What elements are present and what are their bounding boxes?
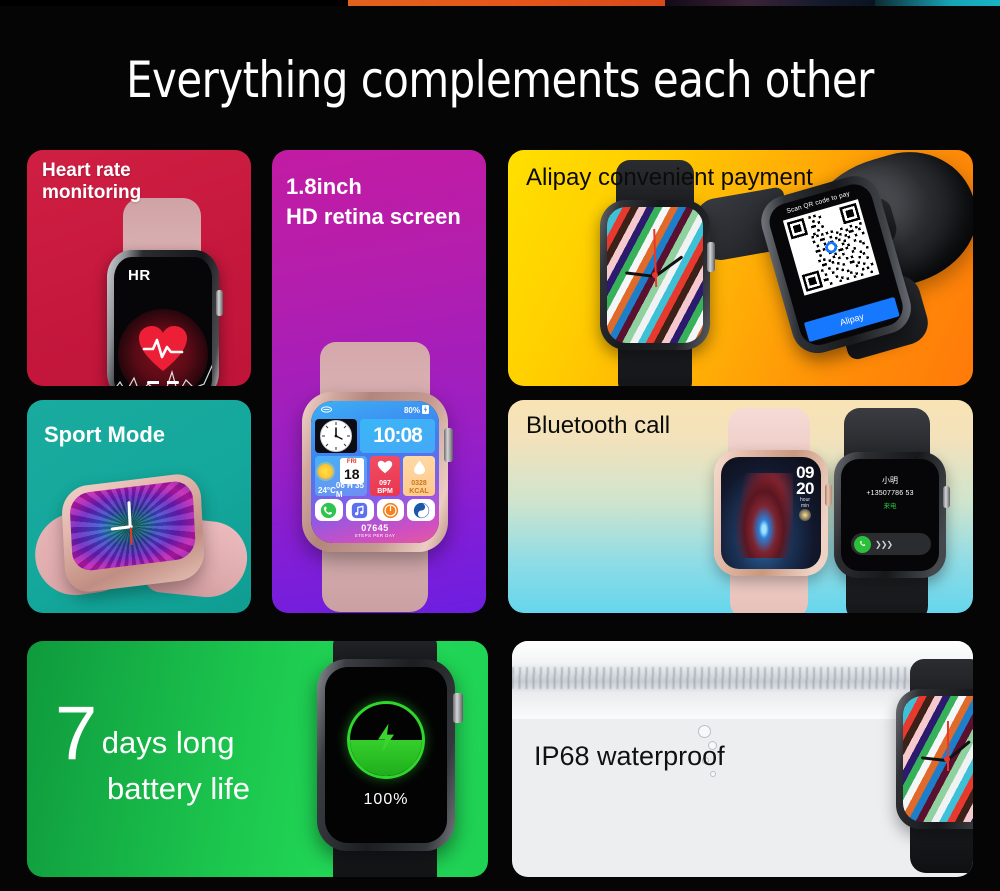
heart-rate-widget: 097 BPM (370, 456, 400, 496)
watch-crown (453, 693, 463, 723)
status-bar: 80% (315, 405, 435, 416)
digital-time: 10:08 (360, 419, 435, 453)
calories-widget: 0328 KCAL (403, 456, 435, 496)
kcal-unit: KCAL (409, 488, 428, 496)
row-weather-metrics: FRI 18 24°C 06 H 35 M (315, 456, 435, 496)
chevron-right-icon: ❯❯❯ (875, 540, 892, 549)
hr-label: HR (128, 267, 151, 284)
watch-screen: 80% (311, 401, 439, 543)
lightning-bolt-icon (374, 723, 398, 753)
page-title: Everything complements each other (35, 52, 965, 108)
panel-hd-screen: 1.8inch HD retina screen 80% (272, 150, 486, 613)
second-hand (653, 229, 657, 287)
watch-screen: 小明 +13507786 53 来电 ❯❯❯ (841, 459, 939, 571)
watch-screen: HR (114, 257, 212, 386)
sport-watch (27, 462, 251, 613)
bubble-icon (698, 725, 711, 738)
panel-sport-mode: Sport Mode (27, 400, 251, 613)
battery-label-group: 7 days long battery life (55, 703, 250, 807)
steps-widget: 07645 STEPS PER DAY (315, 524, 435, 539)
battery-indicator (347, 701, 425, 779)
top-color-strip (0, 0, 1000, 6)
kcal-value: 0328 (411, 480, 427, 488)
panel-bluetooth-call: Bluetooth call 小明 +13507786 53 来电 ❯❯❯ (508, 400, 973, 613)
phone-answer-icon[interactable] (854, 536, 871, 553)
panel-heart-rate: Heart rate monitoring HR (27, 150, 251, 386)
strip-segment-dark (665, 0, 875, 6)
row-clock-time: 10:08 (315, 419, 435, 453)
watch-case: 100% (317, 659, 455, 851)
second-hand (947, 721, 949, 771)
watch-crown (707, 242, 715, 272)
weekday: FRI (340, 458, 364, 466)
panel-heart-rate-label: Heart rate monitoring (42, 160, 141, 204)
spark-glow (799, 509, 811, 521)
watch-face-widgets: 80% (311, 401, 439, 543)
weather-widget: FRI 18 24°C 06 H 35 M (315, 456, 367, 496)
marketing-banner: Everything complements each other Heart … (0, 0, 1000, 891)
watch-case: HR (107, 250, 219, 386)
incoming-call-watch: 小明 +13507786 53 来电 ❯❯❯ (826, 416, 954, 602)
watch-crown (444, 428, 453, 462)
sun-icon (318, 464, 333, 479)
minute-hand (625, 271, 655, 278)
water-drop-icon (413, 460, 426, 475)
battery-label-line2: battery life (107, 771, 250, 807)
panel-sport-mode-label: Sport Mode (44, 422, 165, 448)
battery-percent: 80% (404, 406, 420, 415)
panel-waterproof: IP68 waterproof (512, 641, 973, 877)
panel-alipay-label: Alipay convenient payment (526, 164, 813, 192)
music-icon[interactable] (346, 499, 374, 521)
watch-crown (216, 290, 223, 316)
time-widget: 09 20 hour min (796, 465, 814, 509)
panel-hd-screen-label: 1.8inch HD retina screen (286, 172, 461, 232)
temperature: 24°C (318, 486, 336, 495)
watch-case: 09 20 hour min (714, 450, 828, 576)
watch-case (61, 471, 206, 594)
ironman-wallpaper (735, 473, 793, 558)
analog-clock-widget (315, 419, 357, 453)
watch-case: 80% (302, 392, 448, 552)
heart-icon (377, 460, 393, 474)
strip-segment-orange (348, 0, 665, 6)
caller-number: +13507786 53 (866, 490, 913, 497)
time-unit-bottom: min (796, 503, 814, 509)
battery-percent: 100% (364, 791, 409, 809)
panel-waterproof-label: IP68 waterproof (534, 741, 725, 772)
steps-label: STEPS PER DAY (315, 533, 435, 539)
panel-battery-life: 7 days long battery life 100% (27, 641, 488, 877)
qr-code (783, 199, 879, 295)
panel-bluetooth-call-label: Bluetooth call (526, 412, 670, 440)
watch-face-rainbow (903, 696, 973, 822)
yinyang-icon[interactable] (407, 499, 435, 521)
app-dock (315, 499, 435, 521)
alipay-rainbow-watch (600, 188, 710, 364)
steps-value: 07645 (315, 524, 435, 533)
watch-crown (943, 486, 950, 508)
battery-watch: 100% (303, 641, 471, 877)
watch-case (896, 689, 973, 829)
watch-screen: 09 20 hour min (721, 457, 821, 569)
watch-face-kaleidoscope (69, 479, 196, 572)
watch-screen: Scan QR code to pay (765, 180, 907, 350)
answer-call-slider[interactable]: ❯❯❯ (851, 533, 931, 555)
strip-segment-black (0, 0, 348, 6)
hour-hand (654, 255, 683, 277)
caller-name: 小明 (882, 475, 898, 486)
bpm-unit: BPM (377, 488, 393, 496)
link-icon (321, 406, 332, 415)
hand-pivot (944, 756, 950, 762)
bluetooth-time-watch: 09 20 hour min (704, 412, 836, 602)
phone-icon[interactable] (315, 499, 343, 521)
time-minute: 20 (796, 481, 814, 497)
watch-screen: 100% (325, 667, 447, 843)
watch-crown (825, 484, 832, 506)
duration: 06 H 35 M (336, 481, 364, 499)
battery-label-line1: days long (102, 725, 235, 760)
bpm-value: 097 (379, 480, 391, 488)
hand-pivot (652, 272, 658, 278)
panel-alipay: Alipay convenient payment Scan QR code t… (508, 150, 973, 386)
timer-icon[interactable] (377, 499, 405, 521)
strip-segment-teal (875, 0, 1000, 6)
battery-days-number: 7 (55, 691, 97, 776)
ecg-waveform (114, 354, 212, 386)
watch-case (600, 200, 710, 350)
battery-icon (422, 405, 429, 416)
waterproof-watch (882, 667, 973, 867)
call-status: 来电 (884, 500, 897, 510)
watch-face-rainbow (607, 207, 703, 343)
watch-case: 小明 +13507786 53 来电 ❯❯❯ (834, 452, 946, 578)
